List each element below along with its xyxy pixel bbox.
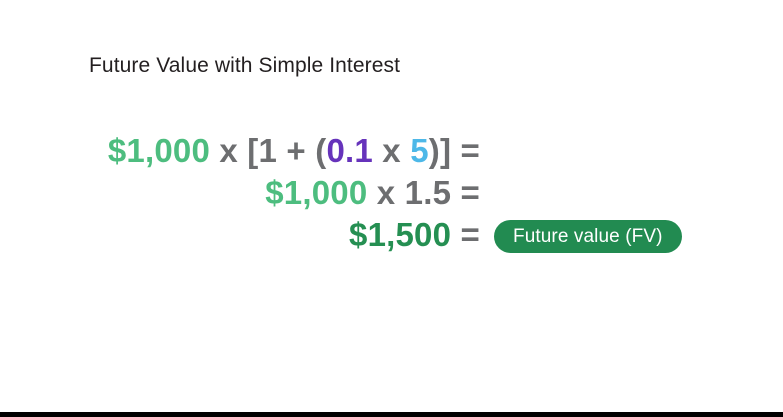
equation-token-op: )] = (429, 132, 480, 169)
slide-canvas: Future Value with Simple Interest $1,000… (0, 0, 783, 417)
equation-block: $1,000 x [1 + (0.1 x 5)] = $1,000 x 1.5 … (60, 130, 480, 256)
equation-line-formula: $1,000 x [1 + (0.1 x 5)] = (60, 130, 480, 172)
equation-token-op: x [1 + ( (210, 132, 326, 169)
bottom-divider (0, 412, 783, 417)
equation-token-time: 5 (410, 132, 429, 169)
status-badge-label: Future value (FV) (513, 226, 663, 248)
equation-token-principal: $1,000 (108, 132, 210, 169)
equation-line-result: $1,500 = (60, 214, 480, 256)
equation-line-simplified: $1,000 x 1.5 = (60, 172, 480, 214)
equation-token-op: = (451, 216, 480, 253)
equation-token-principal: $1,000 (265, 174, 367, 211)
page-title: Future Value with Simple Interest (89, 54, 400, 78)
equation-token-op: x 1.5 = (367, 174, 480, 211)
equation-token-rate: 0.1 (326, 132, 372, 169)
status-badge: Future value (FV) (494, 220, 682, 253)
equation-token-result: $1,500 (349, 216, 451, 253)
equation-token-op: x (373, 132, 410, 169)
